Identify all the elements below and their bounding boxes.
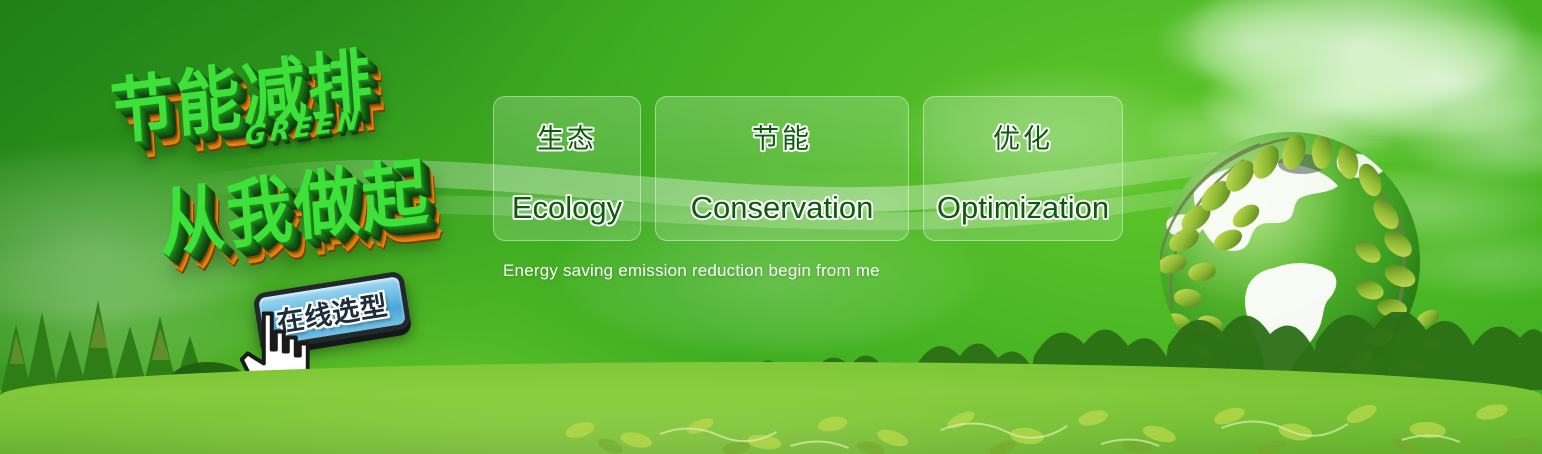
- feature-card-ecology[interactable]: 生态 Ecology: [493, 96, 641, 241]
- feature-card-cn-label: 节能: [752, 117, 812, 156]
- feature-card-cn-label: 生态: [537, 117, 597, 156]
- feature-card-en-label: Conservation: [691, 190, 874, 226]
- feature-card-list: 生态 Ecology 节能 Conservation 优化 Optimizati…: [493, 96, 1123, 241]
- feature-card-en-label: Optimization: [937, 190, 1109, 226]
- headline-artwork: 节能减排 GREEN 从我做起: [88, 22, 503, 279]
- feature-card-optimization[interactable]: 优化 Optimization: [923, 96, 1123, 241]
- leaf-litter-decoration: [540, 390, 1542, 454]
- grass-field: [0, 362, 1542, 454]
- feature-card-conservation[interactable]: 节能 Conservation: [655, 96, 909, 241]
- tagline: Energy saving emission reduction begin f…: [503, 261, 880, 281]
- green-energy-banner: 节能减排 GREEN 从我做起 在线选型 生态 Ecology 节能 Conse…: [0, 0, 1542, 454]
- feature-card-cn-label: 优化: [993, 117, 1053, 156]
- feature-card-en-label: Ecology: [512, 190, 622, 226]
- headline-line-2: 从我做起: [155, 132, 433, 272]
